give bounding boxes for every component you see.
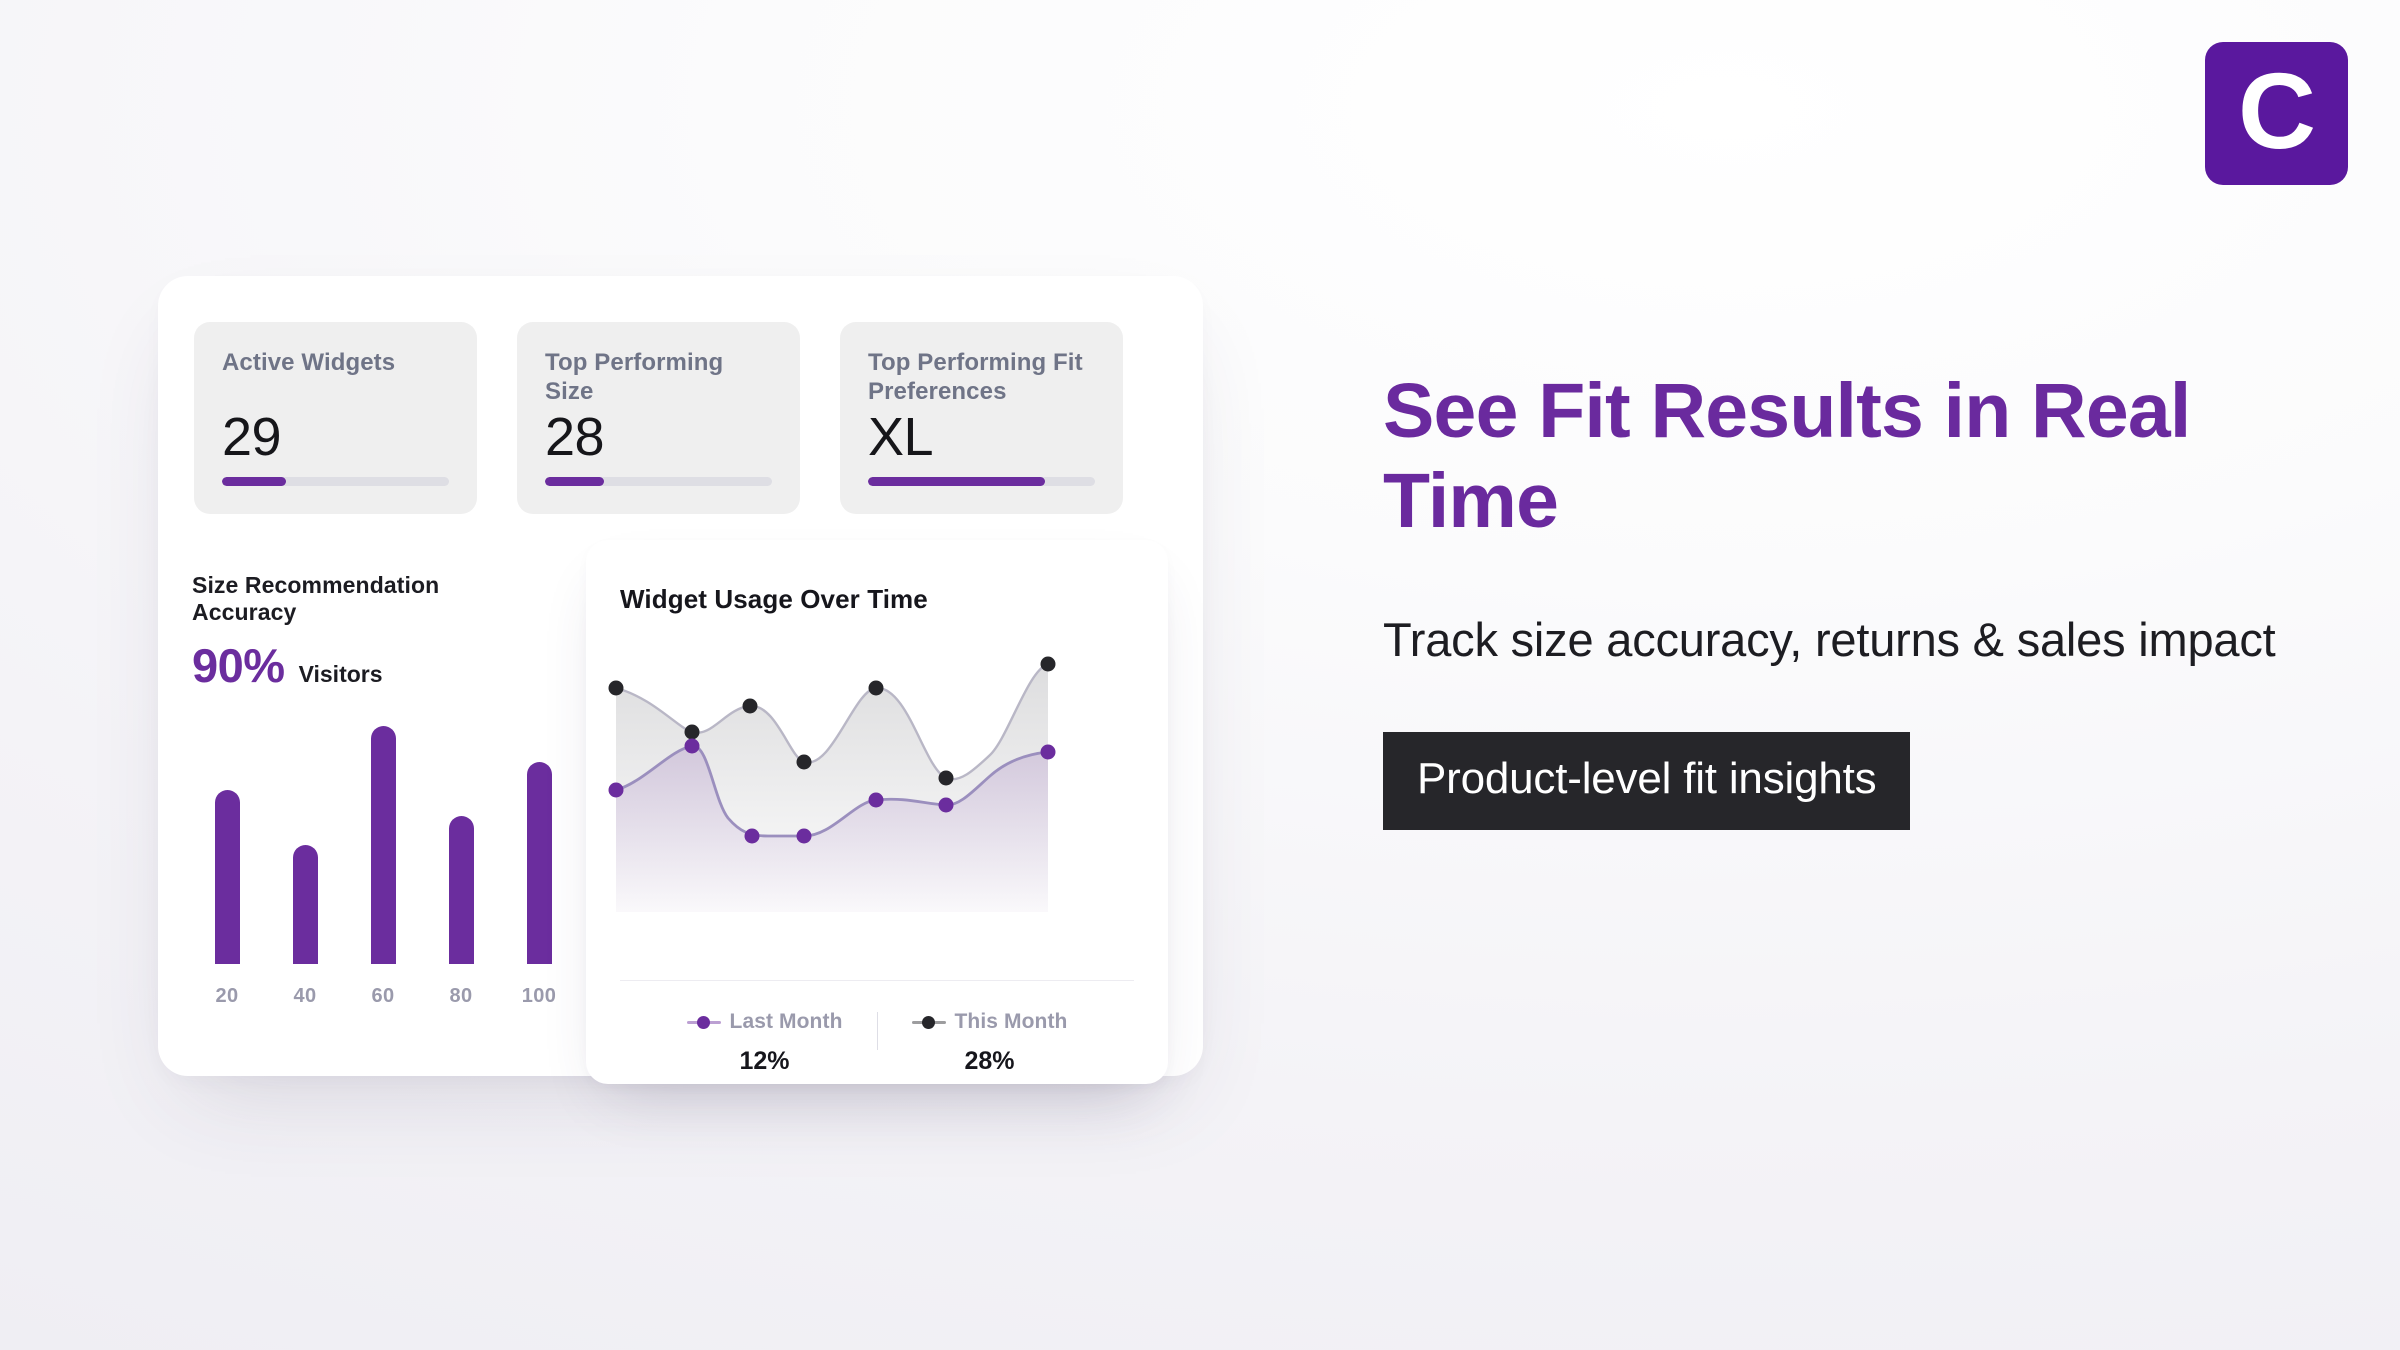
stat-card-row: Active Widgets 29 Top Performing Size 28… bbox=[194, 322, 1124, 514]
accuracy-value: 90% bbox=[192, 642, 285, 689]
bar-column bbox=[500, 726, 578, 964]
bar-column bbox=[422, 726, 500, 964]
data-point-this-month bbox=[939, 771, 954, 786]
axis-tick-label: 20 bbox=[188, 985, 266, 1008]
legend-label: This Month bbox=[955, 1010, 1068, 1034]
page-headline: See Fit Results in Real Time bbox=[1383, 366, 2283, 546]
stat-card-top-performing-fit-preferences[interactable]: Top Performing Fit Preferences XL bbox=[840, 322, 1123, 514]
data-point-this-month bbox=[609, 681, 624, 696]
legend-item-last-month[interactable]: Last Month 12% bbox=[653, 1010, 877, 1076]
brand-logo-letter: C bbox=[2238, 57, 2315, 165]
stat-progress-fill bbox=[868, 477, 1045, 486]
stat-value: XL bbox=[868, 410, 933, 464]
accuracy-value-row: 90% Visitors bbox=[192, 642, 522, 689]
stat-label: Active Widgets bbox=[222, 348, 449, 377]
stat-value: 29 bbox=[222, 410, 281, 464]
data-point-last-month bbox=[685, 739, 700, 754]
brand-logo-badge: C bbox=[2205, 42, 2348, 185]
legend-divider bbox=[620, 980, 1134, 981]
stat-card-active-widgets[interactable]: Active Widgets 29 bbox=[194, 322, 477, 514]
feature-badge: Product-level fit insights bbox=[1383, 732, 1910, 830]
data-point-last-month bbox=[869, 793, 884, 808]
data-point-last-month bbox=[939, 798, 954, 813]
bar-column bbox=[266, 726, 344, 964]
bar-column bbox=[188, 726, 266, 964]
data-point-last-month bbox=[609, 783, 624, 798]
legend-percent: 12% bbox=[739, 1047, 789, 1076]
data-point-this-month bbox=[1041, 657, 1056, 672]
legend-item-this-month[interactable]: This Month 28% bbox=[878, 1010, 1102, 1076]
legend-label: Last Month bbox=[730, 1010, 843, 1034]
data-point-this-month bbox=[869, 681, 884, 696]
data-point-this-month bbox=[797, 755, 812, 770]
stat-card-top-performing-size[interactable]: Top Performing Size 28 bbox=[517, 322, 800, 514]
accuracy-block: Size Recommendation Accuracy 90% Visitor… bbox=[192, 572, 522, 689]
stat-progress-fill bbox=[222, 477, 286, 486]
widget-usage-chart bbox=[608, 650, 1146, 920]
data-point-last-month bbox=[797, 829, 812, 844]
legend-percent: 28% bbox=[964, 1047, 1014, 1076]
axis-tick-label: 40 bbox=[266, 985, 344, 1008]
legend-head: Last Month bbox=[687, 1010, 843, 1034]
stat-label: Top Performing Fit Preferences bbox=[868, 348, 1095, 407]
legend-marker-icon bbox=[687, 1016, 721, 1028]
bar bbox=[215, 790, 240, 964]
stat-progress-track bbox=[545, 477, 772, 486]
stat-progress-fill bbox=[545, 477, 604, 486]
stat-value: 28 bbox=[545, 410, 604, 464]
axis-tick-label: 100 bbox=[500, 985, 578, 1008]
widget-usage-card: Widget Usage Over Time bbox=[586, 540, 1168, 1084]
axis-tick-label: 60 bbox=[344, 985, 422, 1008]
legend-marker-icon bbox=[912, 1016, 946, 1028]
stat-label: Top Performing Size bbox=[545, 348, 772, 407]
bar bbox=[527, 762, 552, 964]
stat-progress-track bbox=[868, 477, 1095, 486]
bar bbox=[293, 845, 318, 964]
stat-progress-track bbox=[222, 477, 449, 486]
bar bbox=[371, 726, 396, 964]
bar-chart: 20 40 60 80 100 bbox=[188, 726, 578, 1016]
accuracy-title: Size Recommendation Accuracy bbox=[192, 572, 522, 626]
page-subheadline: Track size accuracy, returns & sales imp… bbox=[1383, 610, 2283, 670]
widget-usage-title: Widget Usage Over Time bbox=[620, 584, 928, 615]
axis-tick-label: 80 bbox=[422, 985, 500, 1008]
bar-chart-x-axis: 20 40 60 80 100 bbox=[188, 985, 578, 1008]
legend-head: This Month bbox=[912, 1010, 1068, 1034]
chart-legend: Last Month 12% This Month 28% bbox=[620, 1010, 1134, 1076]
bar-chart-plot bbox=[188, 726, 578, 964]
data-point-this-month bbox=[743, 699, 758, 714]
bar bbox=[449, 816, 474, 964]
line-chart-svg bbox=[608, 650, 1146, 920]
bar-column bbox=[344, 726, 422, 964]
data-point-this-month bbox=[685, 725, 700, 740]
dashboard-mockup: Active Widgets 29 Top Performing Size 28… bbox=[158, 276, 1203, 1076]
marketing-content: See Fit Results in Real Time Track size … bbox=[1383, 366, 2283, 830]
accuracy-unit: Visitors bbox=[299, 661, 383, 688]
data-point-last-month bbox=[745, 829, 760, 844]
data-point-last-month bbox=[1041, 745, 1056, 760]
